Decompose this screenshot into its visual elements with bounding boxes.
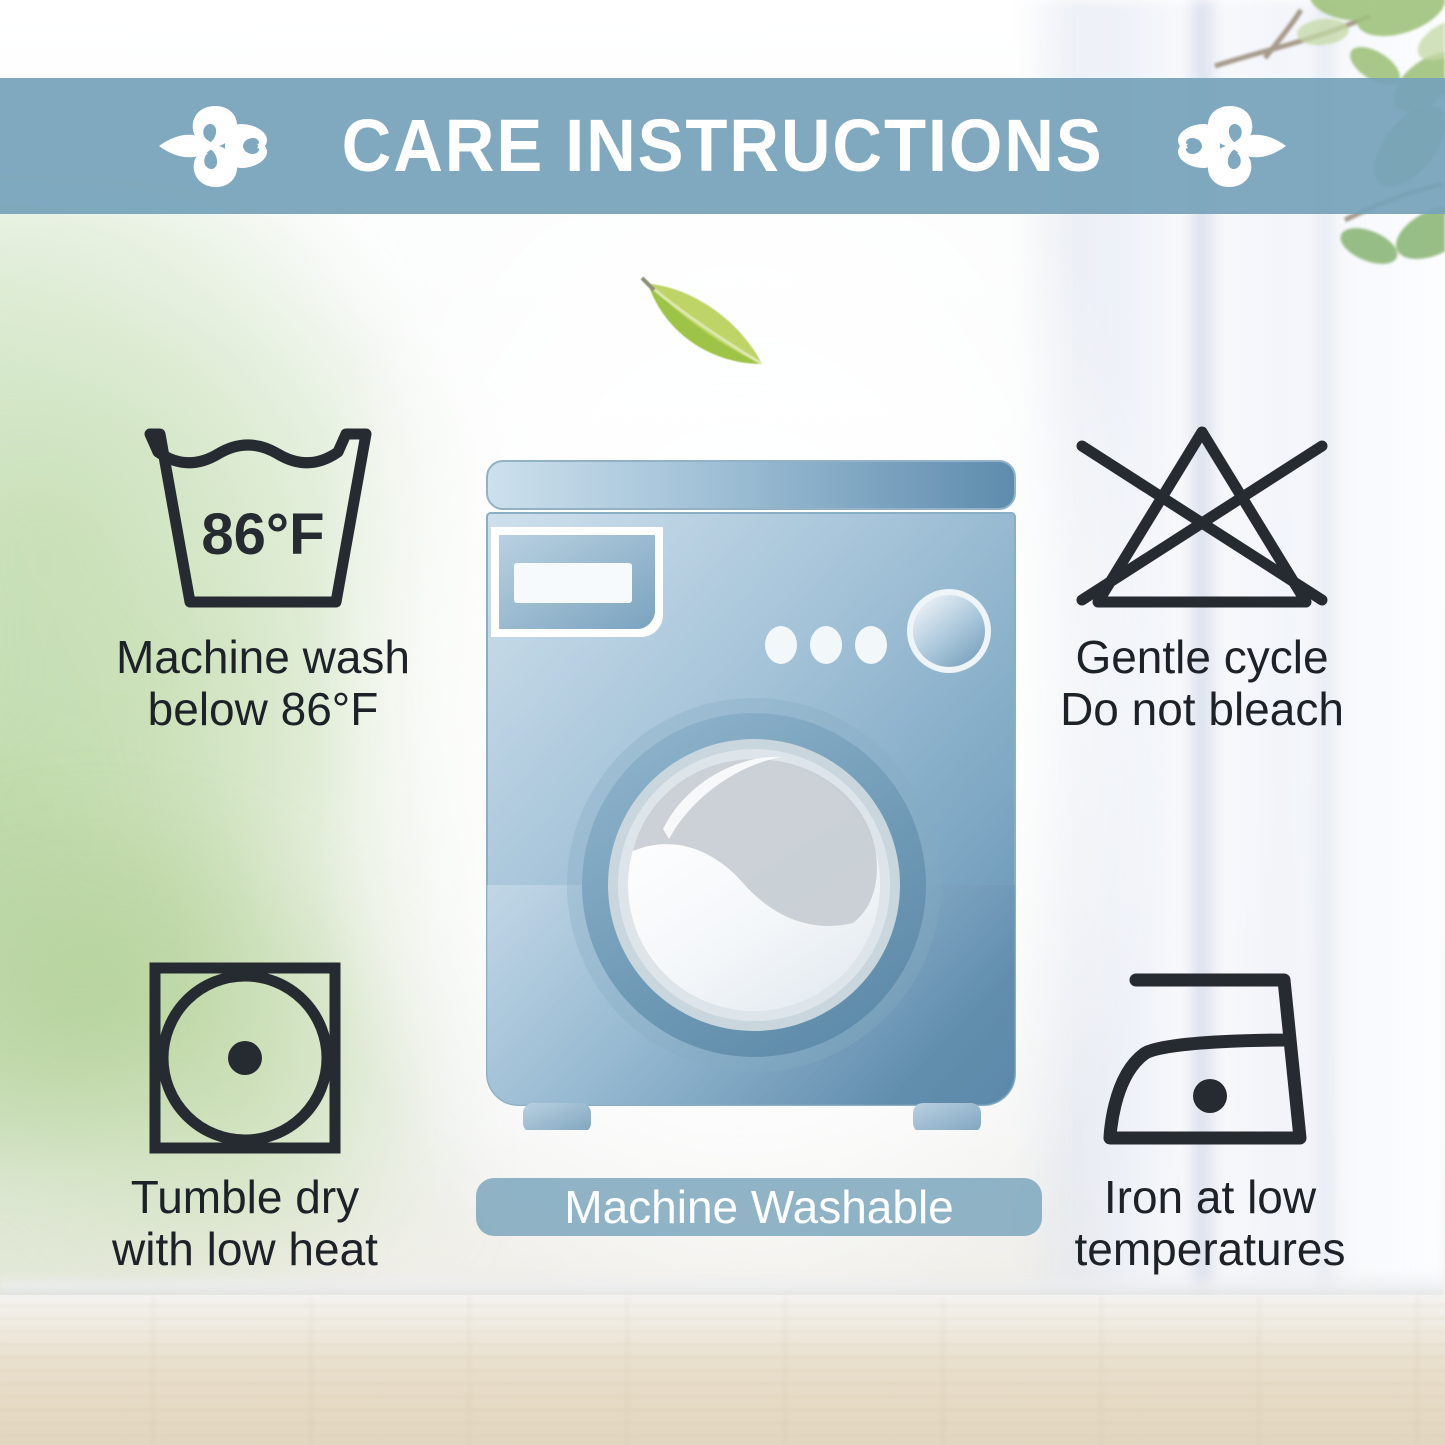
caption-line-1: Tumble dry — [112, 1172, 378, 1224]
caption-line-2: Do not bleach — [1060, 684, 1344, 736]
care-symbol-caption: Gentle cycle Do not bleach — [1060, 632, 1344, 735]
caption-line-2: with low heat — [112, 1224, 378, 1276]
care-symbol-iron: Iron at low temperatures — [985, 958, 1435, 1275]
washing-machine-illustration — [481, 455, 1021, 1130]
fleur-de-lis-icon — [153, 100, 271, 192]
care-symbol-caption: Iron at low temperatures — [1074, 1172, 1345, 1275]
tumble-dry-square-icon — [140, 958, 350, 1158]
floating-leaf-icon — [640, 270, 775, 380]
caption-line-2: below 86°F — [116, 684, 410, 736]
care-symbol-tumble-dry: Tumble dry with low heat — [10, 958, 480, 1275]
caption-line-2: temperatures — [1074, 1224, 1345, 1276]
wood-grain-texture — [0, 1295, 1445, 1445]
caption-line-1: Machine wash — [116, 632, 410, 684]
care-symbol-caption: Tumble dry with low heat — [112, 1172, 378, 1275]
caption-line-1: Gentle cycle — [1060, 632, 1344, 684]
badge-label: Machine Washable — [564, 1184, 954, 1230]
iron-icon — [1088, 958, 1332, 1158]
care-symbol-do-not-bleach: Gentle cycle Do not bleach — [977, 418, 1427, 735]
page-title: CARE INSTRUCTIONS — [342, 109, 1104, 183]
triangle-crossed-out-icon — [1068, 418, 1336, 618]
banner: CARE INSTRUCTIONS — [0, 78, 1445, 214]
fleur-de-lis-icon — [1174, 100, 1292, 192]
wash-tub-icon: 86°F — [132, 418, 394, 618]
caption-line-1: Iron at low — [1074, 1172, 1345, 1224]
wash-temperature-label: 86°F — [201, 502, 324, 567]
care-symbol-caption: Machine wash below 86°F — [116, 632, 410, 735]
machine-washable-badge: Machine Washable — [476, 1178, 1042, 1236]
care-symbol-machine-wash: 86°F Machine wash below 86°F — [28, 418, 498, 735]
